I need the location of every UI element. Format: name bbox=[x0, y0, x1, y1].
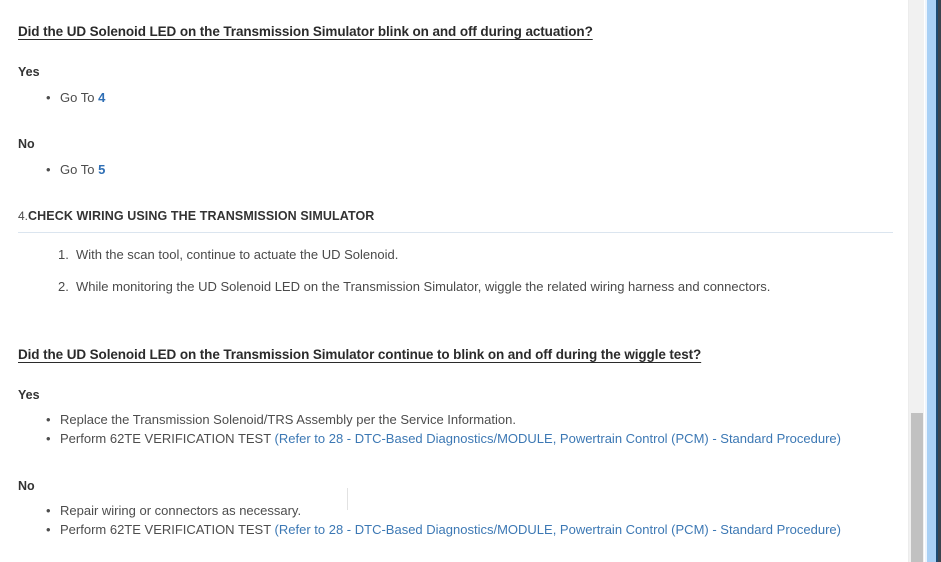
action-text: Repair wiring or connectors as necessary… bbox=[60, 503, 301, 518]
step-number: 4. bbox=[18, 209, 28, 223]
action-text: Replace the Transmission Solenoid/TRS As… bbox=[60, 412, 516, 427]
action-text: Perform 62TE VERIFICATION TEST bbox=[60, 522, 275, 537]
step-text: With the scan tool, continue to actuate … bbox=[76, 247, 398, 262]
question-1: Did the UD Solenoid LED on the Transmiss… bbox=[18, 24, 593, 40]
no-list-2: Repair wiring or connectors as necessary… bbox=[18, 501, 841, 539]
list-item: Perform 62TE VERIFICATION TEST (Refer to… bbox=[18, 520, 841, 539]
document-scrollbar-track[interactable] bbox=[908, 0, 924, 562]
answer-label-no-2: No bbox=[18, 479, 35, 494]
step-heading-4: 4.CHECK WIRING USING THE TRANSMISSION SI… bbox=[18, 208, 374, 224]
goto-step-link[interactable]: 4 bbox=[98, 90, 105, 105]
answer-label-yes-1: Yes bbox=[18, 65, 40, 80]
goto-text: Go To bbox=[60, 90, 98, 105]
yes-list-2: Replace the Transmission Solenoid/TRS As… bbox=[18, 410, 841, 448]
list-item: Go To 5 bbox=[18, 159, 105, 180]
render-artifact bbox=[347, 488, 348, 510]
document-pane: Did the UD Solenoid LED on the Transmiss… bbox=[0, 0, 908, 562]
goto-step-link[interactable]: 5 bbox=[98, 162, 105, 177]
question-2: Did the UD Solenoid LED on the Transmiss… bbox=[18, 347, 701, 363]
list-item: Go To 4 bbox=[18, 87, 105, 108]
list-item: Perform 62TE VERIFICATION TEST (Refer to… bbox=[18, 429, 841, 448]
step-marker: 1. bbox=[58, 246, 69, 264]
reference-link[interactable]: (Refer to 28 - DTC-Based Diagnostics/MOD… bbox=[275, 431, 841, 446]
list-item: Replace the Transmission Solenoid/TRS As… bbox=[18, 410, 841, 429]
scrollbar-area bbox=[908, 0, 941, 562]
browser-scrollbar-thumb[interactable] bbox=[927, 0, 936, 562]
action-text: Perform 62TE VERIFICATION TEST bbox=[60, 431, 275, 446]
list-item: 2. While monitoring the UD Solenoid LED … bbox=[18, 278, 888, 296]
procedure-steps: 1. With the scan tool, continue to actua… bbox=[18, 232, 888, 296]
goto-text: Go To bbox=[60, 162, 98, 177]
step-title: CHECK WIRING USING THE TRANSMISSION SIMU… bbox=[28, 209, 374, 223]
answer-label-no-1: No bbox=[18, 137, 35, 152]
page-root: Did the UD Solenoid LED on the Transmiss… bbox=[0, 0, 941, 562]
document-scrollbar-thumb[interactable] bbox=[911, 413, 923, 562]
list-item: 1. With the scan tool, continue to actua… bbox=[18, 246, 888, 264]
no-list-1: Go To 5 bbox=[18, 159, 105, 180]
list-item: Repair wiring or connectors as necessary… bbox=[18, 501, 841, 520]
reference-link[interactable]: (Refer to 28 - DTC-Based Diagnostics/MOD… bbox=[275, 522, 841, 537]
step-marker: 2. bbox=[58, 278, 69, 296]
yes-list-1: Go To 4 bbox=[18, 87, 105, 108]
step-text: While monitoring the UD Solenoid LED on … bbox=[76, 279, 770, 294]
answer-label-yes-2: Yes bbox=[18, 388, 40, 403]
